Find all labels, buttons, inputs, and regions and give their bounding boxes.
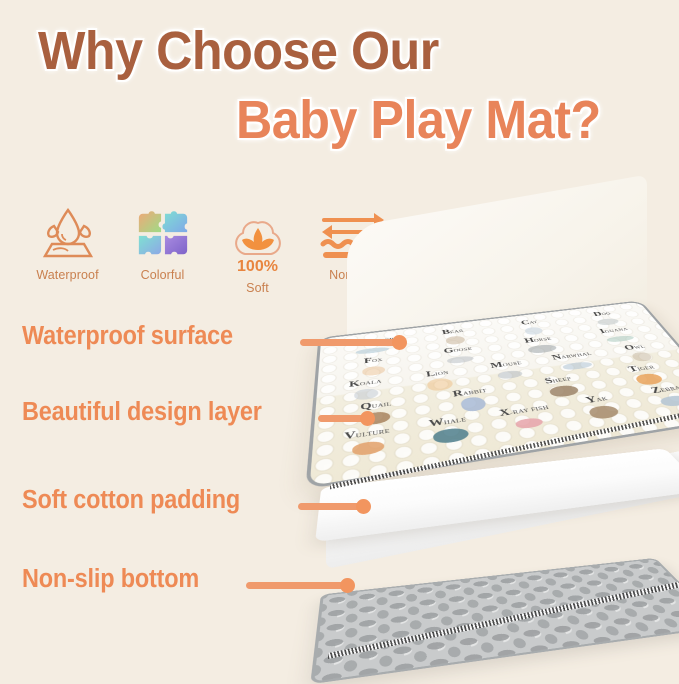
feature-label: Colorful (141, 268, 185, 282)
layer-label: Waterproof surface (22, 322, 233, 351)
headline-line-2: Baby Play Mat? (236, 93, 648, 147)
feature-colorful: Colorful (115, 200, 210, 295)
feature-label: Soft (246, 281, 269, 295)
layer-label: Non-slip bottom (22, 565, 199, 594)
layer-label: Beautiful design layer (22, 398, 262, 427)
leader-dot (392, 335, 407, 350)
infographic-canvas: Why Choose Our Baby Play Mat? Waterproof (0, 0, 679, 679)
page-title: Why Choose Our Baby Play Mat? (0, 24, 679, 147)
soft-percentage-badge: 100% (237, 259, 278, 275)
leader-dot (356, 499, 371, 514)
leader-line (246, 582, 350, 589)
layer-label: Soft cotton padding (22, 486, 240, 515)
headline-line-1: Why Choose Our (38, 24, 634, 78)
leader-dot (340, 578, 355, 593)
feature-soft: 100% Soft (210, 200, 305, 295)
leader-dot (360, 411, 375, 426)
leader-line (300, 339, 402, 346)
soft-cotton-cloud-icon (227, 200, 289, 262)
colorful-puzzle-icon (135, 200, 191, 262)
feature-waterproof: Waterproof (20, 200, 115, 295)
feature-label: Waterproof (36, 268, 98, 282)
waterproof-droplet-icon (37, 200, 99, 262)
